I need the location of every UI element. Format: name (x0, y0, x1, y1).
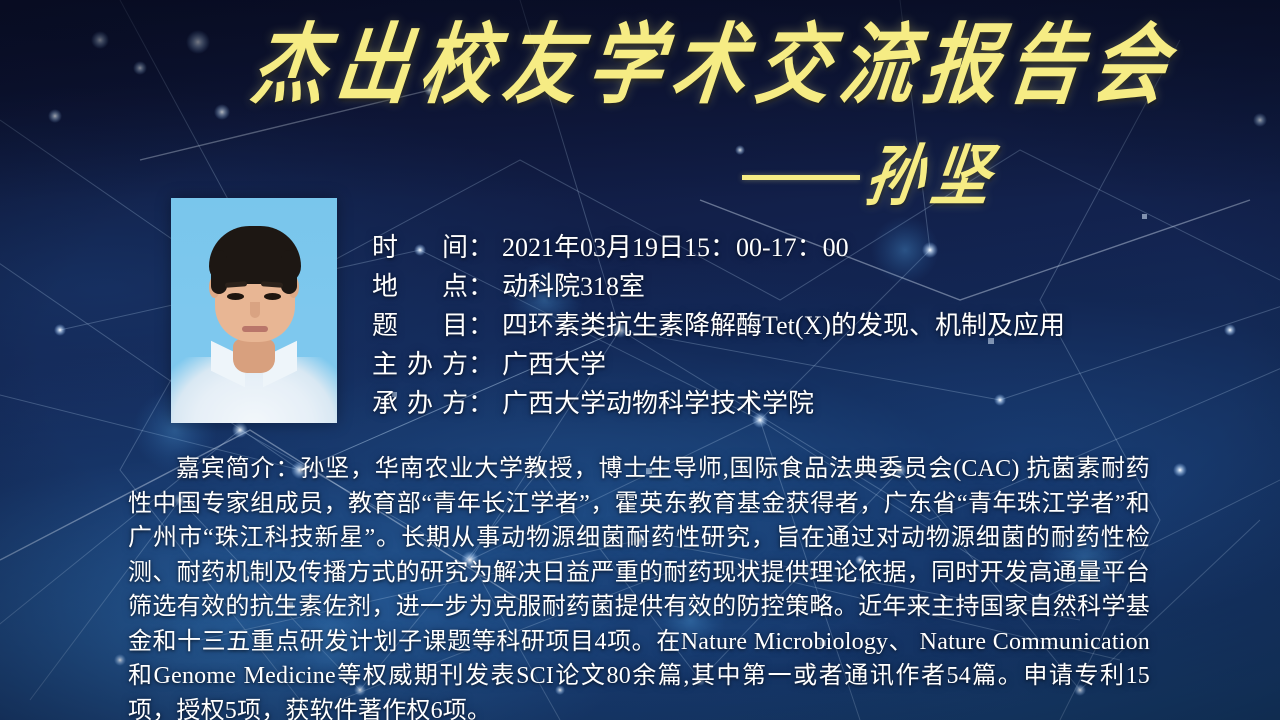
info-colon-time: ： (468, 228, 502, 267)
info-label-location: 地点 (372, 267, 468, 306)
portrait-nose (250, 302, 260, 318)
info-colon-topic: ： (468, 306, 502, 345)
info-label-time: 时间 (372, 228, 468, 267)
portrait-hair-left (211, 250, 227, 294)
info-value-time: 2021年03月19日15：00-17：00 (502, 228, 849, 267)
speaker-portrait (171, 198, 337, 423)
info-row-host: 承办方 ： 广西大学动物科学技术学院 (372, 384, 1172, 423)
info-row-location: 地点 ： 动科院318室 (372, 267, 1172, 306)
subtitle-speaker: 孙坚 (742, 148, 998, 206)
info-row-organizer: 主办方 ： 广西大学 (372, 345, 1172, 384)
info-colon-organizer: ： (468, 345, 502, 384)
subtitle-speaker-name: 孙坚 (861, 144, 1002, 211)
speaker-biography: 嘉宾简介：孙坚，华南农业大学教授，博士生导师,国际食品法典委员会(CAC) 抗菌… (128, 452, 1150, 720)
info-label-topic: 题目 (372, 306, 468, 345)
portrait-neck (233, 339, 275, 373)
info-value-host: 广西大学动物科学技术学院 (502, 384, 814, 423)
portrait-eye-right (264, 293, 281, 300)
portrait-eye-left (227, 293, 244, 300)
page-title: 杰出校友学术交流报告会 (247, 22, 1158, 114)
event-info-block: 时间 ： 2021年03月19日15：00-17：00 地点 ： 动科院318室… (372, 228, 1172, 423)
info-colon-location: ： (468, 267, 502, 306)
poster-root: 杰出校友学术交流报告会 孙坚 时间 ： 2021年03月19日15：00-17：… (0, 0, 1280, 720)
info-label-host: 承办方 (372, 384, 468, 423)
info-value-topic: 四环素类抗生素降解酶Tet(X)的发现、机制及应用 (502, 306, 1065, 345)
info-row-topic: 题目 ： 四环素类抗生素降解酶Tet(X)的发现、机制及应用 (372, 306, 1172, 345)
info-colon-host: ： (468, 384, 502, 423)
portrait-mouth (242, 326, 268, 332)
portrait-hair-right (281, 250, 297, 294)
subtitle-dash-icon (742, 175, 860, 180)
info-value-location: 动科院318室 (502, 267, 645, 306)
info-label-organizer: 主办方 (372, 345, 468, 384)
info-value-organizer: 广西大学 (502, 345, 606, 384)
info-row-time: 时间 ： 2021年03月19日15：00-17：00 (372, 228, 1172, 267)
